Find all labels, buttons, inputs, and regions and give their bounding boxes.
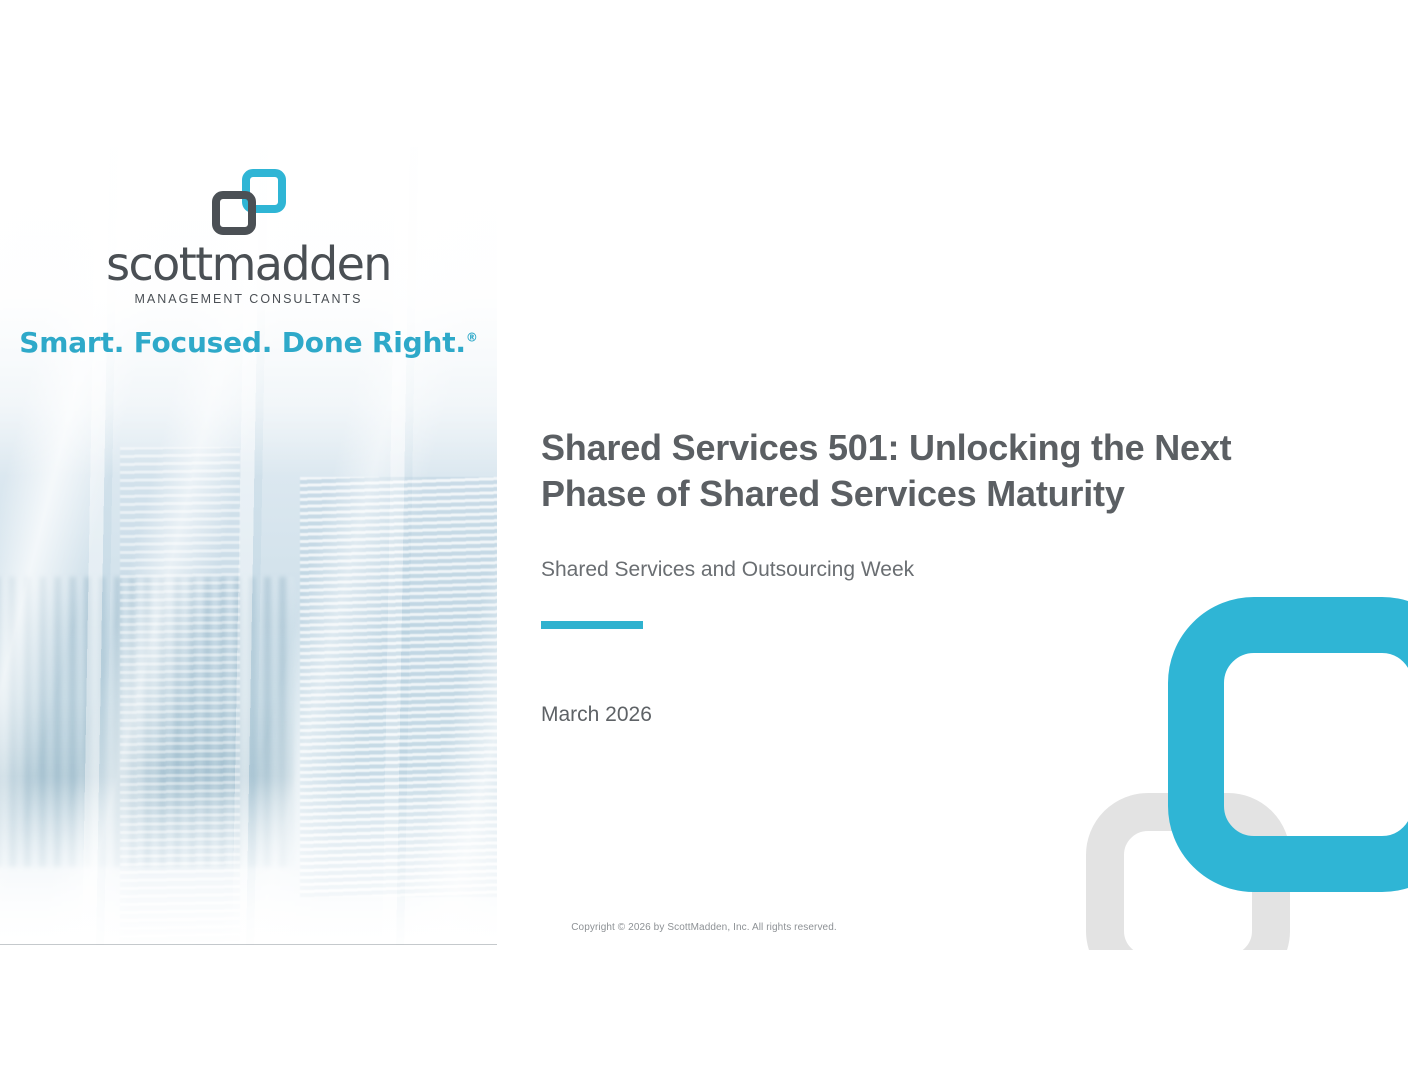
brand-descriptor: MANAGEMENT CONSULTANTS (0, 292, 497, 306)
brand-tagline: Smart. Focused. Done Right.® (0, 326, 497, 359)
title-slide: scottmadden MANAGEMENT CONSULTANTS Smart… (0, 0, 1408, 1088)
accent-divider (541, 621, 643, 629)
photo-venetian-blinds-left (120, 447, 240, 945)
brand-lockup: scottmadden MANAGEMENT CONSULTANTS Smart… (0, 169, 497, 359)
logo-square-dark-icon (212, 191, 256, 235)
photo-venetian-blinds-right (300, 477, 497, 897)
page-subtitle: Shared Services and Outsourcing Week (541, 558, 1301, 582)
brand-tagline-text: Smart. Focused. Done Right. (19, 326, 466, 359)
brand-wordmark: scottmadden (0, 241, 497, 287)
watermark-square-cyan-icon (1168, 597, 1408, 892)
registered-trademark-icon: ® (466, 331, 478, 345)
cover-photo: scottmadden MANAGEMENT CONSULTANTS Smart… (0, 147, 497, 945)
scottmadden-watermark (1060, 575, 1408, 950)
copyright-notice: Copyright © 2026 by ScottMadden, Inc. Al… (0, 922, 1408, 933)
scottmadden-logo-mark (212, 169, 286, 235)
presentation-date: March 2026 (541, 703, 652, 727)
page-title: Shared Services 501: Unlocking the Next … (541, 425, 1331, 517)
